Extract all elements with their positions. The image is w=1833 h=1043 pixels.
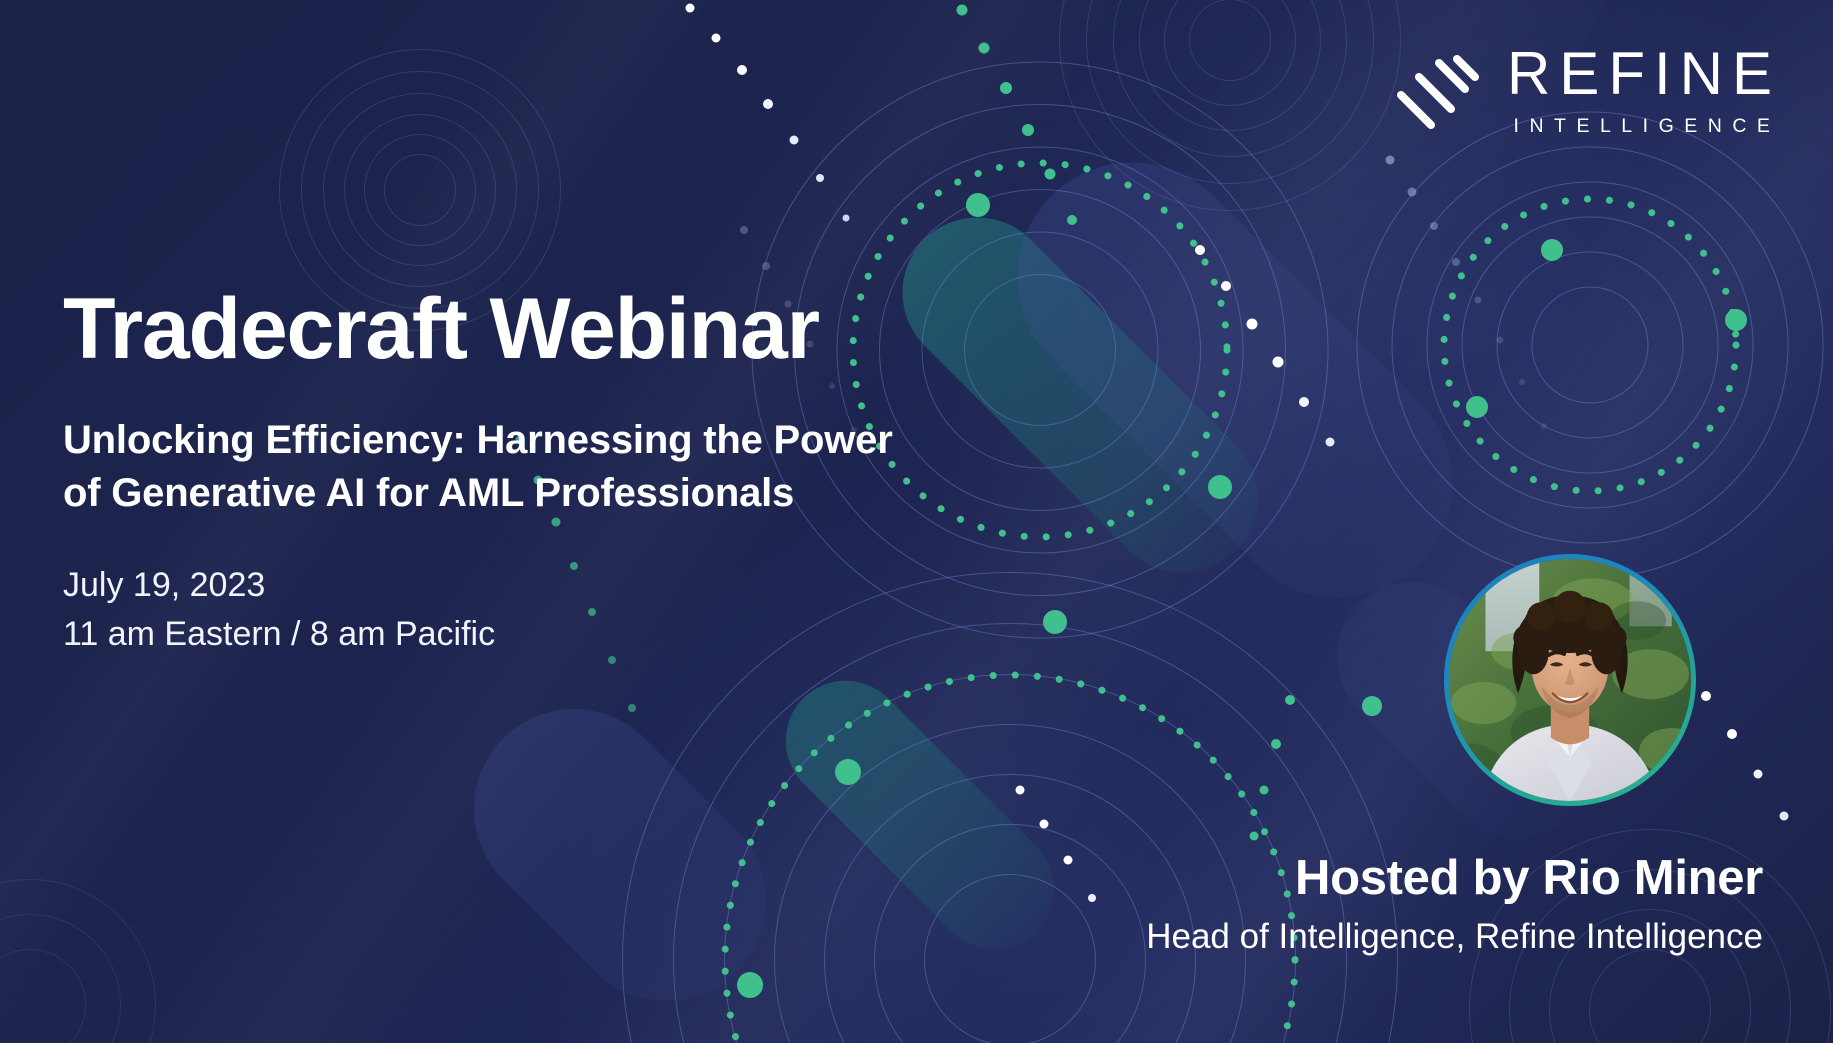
speaker-credit-block: Hosted by Rio Miner Head of Intelligence…: [863, 852, 1763, 958]
subtitle-line-1: Unlocking Efficiency: Harnessing the Pow…: [63, 414, 993, 467]
speaker-portrait-illustration: [1449, 559, 1691, 801]
orbit-node: [966, 193, 990, 217]
orbit-node: [1725, 309, 1747, 331]
orbit-node: [1362, 696, 1382, 716]
diagonal-slashes-icon: [1395, 51, 1481, 129]
main-copy-block: Tradecraft Webinar Unlocking Efficiency:…: [63, 286, 1063, 658]
webinar-date: July 19, 2023: [63, 561, 1063, 609]
refine-intelligence-logo: REFINE INTELLIGENCE: [1395, 44, 1781, 137]
logo-text-block: REFINE INTELLIGENCE: [1507, 44, 1781, 137]
faint-capsule-band: [433, 668, 808, 1043]
orbit-node: [737, 972, 763, 998]
speaker-avatar: [1444, 554, 1696, 806]
host-name: Hosted by Rio Miner: [863, 852, 1763, 906]
schedule-block: July 19, 2023 11 am Eastern / 8 am Pacif…: [63, 561, 1063, 658]
orbit-node: [1541, 239, 1563, 261]
page-title: Tradecraft Webinar: [63, 286, 1063, 374]
subtitle-line-2: of Generative AI for AML Professionals: [63, 467, 993, 520]
logo-subtext: INTELLIGENCE: [1507, 117, 1781, 137]
logo-wordmark: REFINE: [1507, 44, 1781, 104]
orbit-node: [835, 759, 861, 785]
webinar-promo-banner: REFINE INTELLIGENCE Tradecraft Webinar U…: [0, 0, 1833, 1043]
orbit-node: [1208, 475, 1232, 499]
webinar-subtitle: Unlocking Efficiency: Harnessing the Pow…: [63, 414, 993, 520]
orbit-node: [1466, 396, 1488, 418]
dotted-orbit: [700, 650, 1320, 1043]
webinar-time: 11 am Eastern / 8 am Pacific: [63, 610, 1063, 658]
avatar-image: [1449, 559, 1691, 801]
host-role: Head of Intelligence, Refine Intelligenc…: [863, 916, 1763, 958]
dotted-orbit: [1425, 180, 1755, 510]
